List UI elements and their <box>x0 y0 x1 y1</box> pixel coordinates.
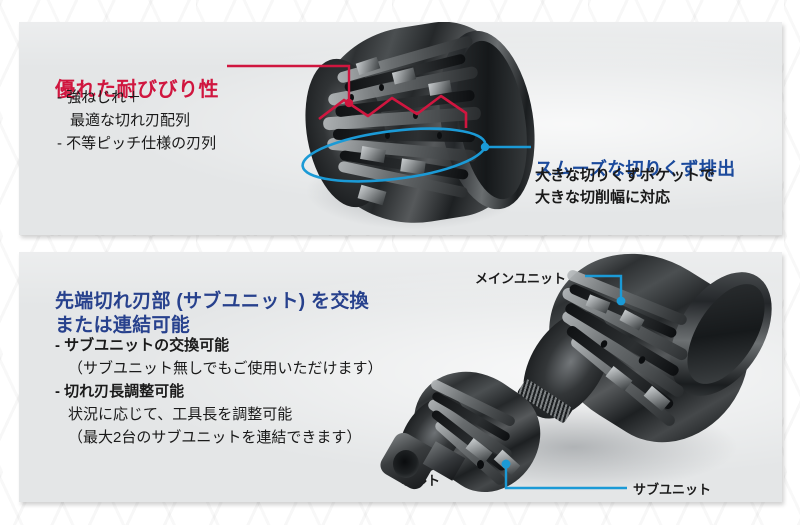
modular-cutter-exploded-photo <box>349 252 779 502</box>
bullet-item: - 不等ピッチ仕様の刃列 <box>57 132 216 155</box>
bullet-item: 状況に応じて、工具長を調整可能 <box>55 403 383 426</box>
panel-modular-sub-unit: 先端切れ刃部 (サブユニット) を交換 または連結可能 - サブユニットの交換可… <box>19 252 782 502</box>
panel-chatter-resistance: 優れた耐びびり性 - 強ねじれ＋ 最適な切れ刃 <box>19 22 782 235</box>
bullet-item: （サブユニット無しでもご使用いただけます） <box>55 357 383 380</box>
heading-modular-sub-unit: 先端切れ刃部 (サブユニット) を交換 または連結可能 <box>55 290 369 338</box>
bullet-list-chatter: - 強ねじれ＋ 最適な切れ刃配列 - 不等ピッチ仕様の刃列 <box>57 86 216 155</box>
heading-line: 先端切れ刃部 (サブユニット) を交換 <box>55 290 369 314</box>
callout-body-line: 大きな切りくずポケットで <box>535 165 715 187</box>
callout-body-chip-evacuation: 大きな切りくずポケットで 大きな切削幅に対応 <box>535 165 715 209</box>
bullet-item: - サブユニットの交換可能 <box>55 334 383 357</box>
milling-cutter-head-photo <box>301 22 536 235</box>
bullet-item: （最大2台のサブユニットを連結できます） <box>55 426 383 449</box>
bullet-item: 最適な切れ刃配列 <box>57 109 216 132</box>
bullet-list-modular: - サブユニットの交換可能 （サブユニット無しでもご使用いただけます） - 切れ… <box>55 334 383 449</box>
callout-body-line: 大きな切削幅に対応 <box>535 187 715 209</box>
bullet-item: - 強ねじれ＋ <box>57 86 216 109</box>
bullet-item: - 切れ刃長調整可能 <box>55 380 383 403</box>
